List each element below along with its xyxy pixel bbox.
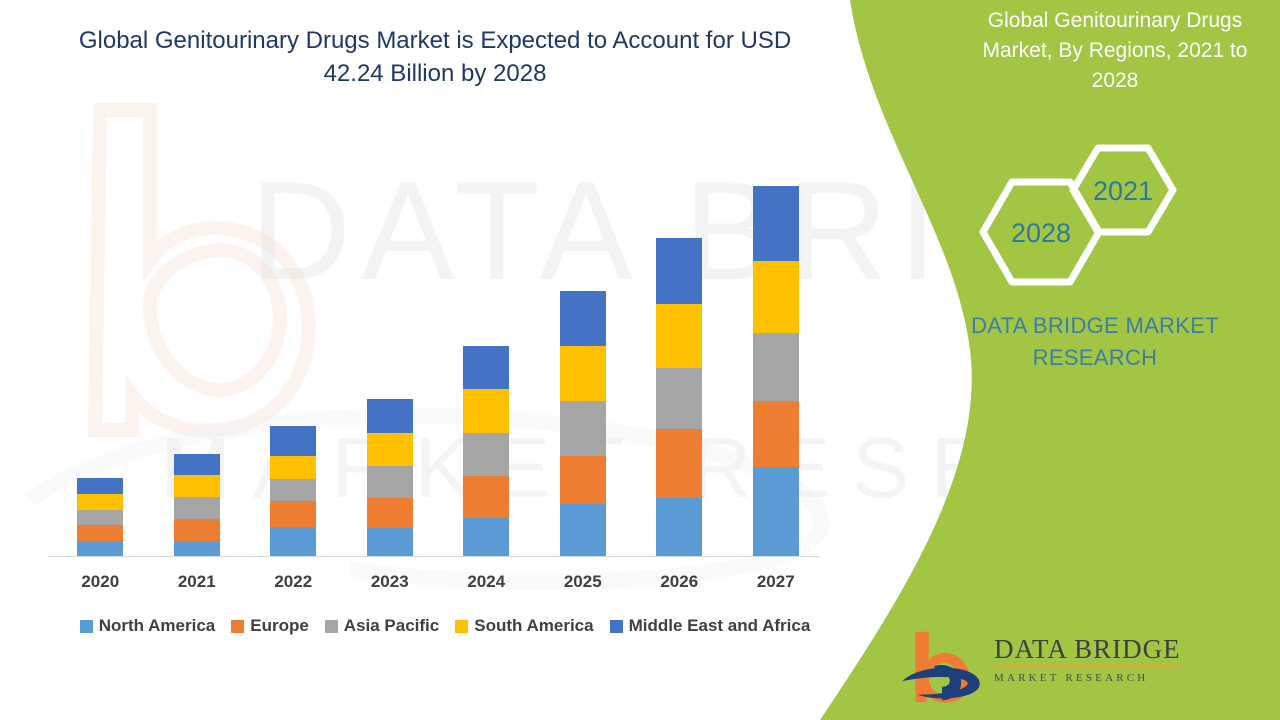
bar-segment-2024-middle-east-and-africa <box>463 346 509 389</box>
x-axis-labels: 20202021202220232024202520262027 <box>48 566 838 598</box>
bar-segment-2021-europe <box>174 519 220 541</box>
bar-segment-2022-south-america <box>270 456 316 479</box>
bar-segment-2020-middle-east-and-africa <box>77 478 123 494</box>
legend-label: South America <box>474 616 593 636</box>
logo-title: DATA BRIDGE <box>994 634 1181 668</box>
bar-segment-2020-asia-pacific <box>77 510 123 525</box>
brand-name: DATA BRIDGE MARKET RESEARCH <box>930 310 1260 374</box>
legend-item-europe[interactable]: Europe <box>231 616 309 636</box>
x-axis-label-2026: 2026 <box>639 572 719 592</box>
bar-segment-2027-south-america <box>753 261 799 333</box>
legend-item-south-america[interactable]: South America <box>455 616 593 636</box>
bar-2023 <box>367 399 413 557</box>
bar-segment-2025-south-america <box>560 346 606 401</box>
page-title: Global Genitourinary Drugs Market is Exp… <box>50 24 820 90</box>
bar-segment-2022-middle-east-and-africa <box>270 426 316 456</box>
chart-panel: Global Genitourinary Drugs Market is Exp… <box>0 0 860 720</box>
logo-text-block: DATA BRIDGE MARKET RESEARCH <box>994 634 1224 684</box>
bar-segment-2020-south-america <box>77 494 123 510</box>
bar-2027 <box>753 186 799 557</box>
bar-segment-2026-asia-pacific <box>656 368 702 429</box>
bar-2025 <box>560 291 606 557</box>
bar-segment-2022-north-america <box>270 527 316 557</box>
x-axis-label-2023: 2023 <box>350 572 430 592</box>
bar-segment-2020-north-america <box>77 541 123 557</box>
bar-segment-2025-middle-east-and-africa <box>560 291 606 346</box>
legend-swatch-icon <box>455 620 468 633</box>
logo-subtitle: MARKET RESEARCH <box>994 672 1224 684</box>
bar-segment-2021-north-america <box>174 541 220 557</box>
hexagon-right-label: 2021 <box>1093 176 1153 206</box>
legend-item-asia-pacific[interactable]: Asia Pacific <box>325 616 439 636</box>
x-axis-label-2020: 2020 <box>60 572 140 592</box>
x-axis-label-2025: 2025 <box>543 572 623 592</box>
bar-segment-2026-south-america <box>656 304 702 368</box>
bar-segment-2023-north-america <box>367 528 413 557</box>
databridge-logo-mark-icon <box>900 628 986 704</box>
bar-segment-2023-south-america <box>367 433 413 466</box>
legend-swatch-icon <box>80 620 93 633</box>
legend-label: North America <box>99 616 216 636</box>
bar-segment-2024-asia-pacific <box>463 433 509 476</box>
bar-segment-2024-north-america <box>463 518 509 557</box>
bar-2024 <box>463 346 509 557</box>
bar-segment-2022-europe <box>270 501 316 527</box>
bar-segment-2026-middle-east-and-africa <box>656 238 702 304</box>
bar-segment-2027-middle-east-and-africa <box>753 186 799 261</box>
bar-segment-2025-asia-pacific <box>560 401 606 456</box>
bar-segment-2026-north-america <box>656 498 702 557</box>
x-axis-label-2024: 2024 <box>446 572 526 592</box>
legend-item-north-america[interactable]: North America <box>80 616 216 636</box>
bar-segment-2027-north-america <box>753 467 799 557</box>
hexagon-pair-icon: 2021 2028 <box>970 140 1220 300</box>
legend-swatch-icon <box>231 620 244 633</box>
legend-label: Europe <box>250 616 309 636</box>
x-axis-label-2027: 2027 <box>736 572 816 592</box>
green-panel-content: Global Genitourinary Drugs Market, By Re… <box>810 0 1280 720</box>
hexagon-badges: 2021 2028 <box>970 140 1220 300</box>
hexagon-left-label: 2028 <box>1011 218 1071 248</box>
bar-segment-2021-asia-pacific <box>174 497 220 519</box>
bar-segment-2027-europe <box>753 401 799 467</box>
legend-label: Middle East and Africa <box>629 616 811 636</box>
legend-item-middle-east-and-africa[interactable]: Middle East and Africa <box>610 616 811 636</box>
bar-segment-2023-asia-pacific <box>367 466 413 498</box>
legend-swatch-icon <box>610 620 623 633</box>
bar-2026 <box>656 238 702 557</box>
bar-segment-2027-asia-pacific <box>753 333 799 401</box>
legend-swatch-icon <box>325 620 338 633</box>
x-axis-label-2021: 2021 <box>157 572 237 592</box>
bar-segment-2023-middle-east-and-africa <box>367 399 413 433</box>
bar-segment-2026-europe <box>656 429 702 498</box>
legend-label: Asia Pacific <box>344 616 439 636</box>
x-axis-baseline <box>48 556 820 557</box>
bar-segment-2020-europe <box>77 525 123 541</box>
company-logo: DATA BRIDGE MARKET RESEARCH <box>900 628 1230 704</box>
bar-segment-2024-south-america <box>463 389 509 433</box>
panel-title: Global Genitourinary Drugs Market, By Re… <box>960 6 1270 95</box>
bar-segment-2021-south-america <box>174 475 220 497</box>
bar-2021 <box>174 454 220 557</box>
bar-segment-2025-europe <box>560 456 606 504</box>
bar-2020 <box>77 478 123 557</box>
bar-chart-plot-area <box>48 120 838 557</box>
bar-segment-2025-north-america <box>560 504 606 557</box>
x-axis-label-2022: 2022 <box>253 572 333 592</box>
bar-segment-2023-europe <box>367 498 413 528</box>
bar-segment-2024-europe <box>463 476 509 518</box>
chart-legend: North AmericaEuropeAsia PacificSouth Ame… <box>50 616 840 636</box>
bar-segment-2022-asia-pacific <box>270 479 316 501</box>
bar-segment-2021-middle-east-and-africa <box>174 454 220 475</box>
bar-2022 <box>270 426 316 557</box>
